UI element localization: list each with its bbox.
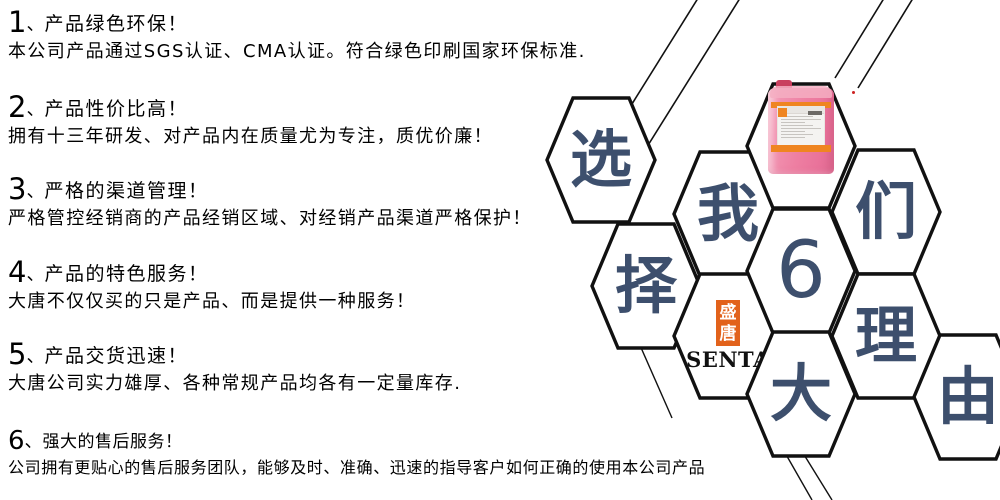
- jerrycan-label-bottom-bar: [771, 145, 831, 152]
- jerrycan-label-orange-square: [778, 108, 787, 117]
- brand-seal-top-char: 盛: [720, 303, 737, 324]
- hex-label-xuan: 选: [545, 96, 657, 224]
- jerrycan-icon: [768, 78, 834, 174]
- hex-cell-you[interactable]: 由: [912, 333, 1000, 461]
- jerrycan-label-textlines: [778, 114, 824, 138]
- brand-seal-bottom-char: 唐: [720, 324, 737, 345]
- honeycomb-slogan-graphic: 选 择 我 盛 唐 SENTA: [0, 0, 1000, 500]
- brand-seal-icon: 盛 唐: [716, 300, 740, 346]
- hex-cell-xuan[interactable]: 选: [545, 96, 657, 224]
- jerrycan-shoulder: [770, 86, 832, 98]
- hex-label-men: 们: [830, 148, 942, 276]
- promo-poster: 1、产品绿色环保！ 本公司产品通过SGS认证、CMA认证。符合绿色印刷国家环保标…: [0, 0, 1000, 500]
- hex-cell-men[interactable]: 们: [830, 148, 942, 276]
- hex-label-you: 由: [912, 333, 1000, 461]
- jerrycan-label-gray-block: [808, 111, 822, 115]
